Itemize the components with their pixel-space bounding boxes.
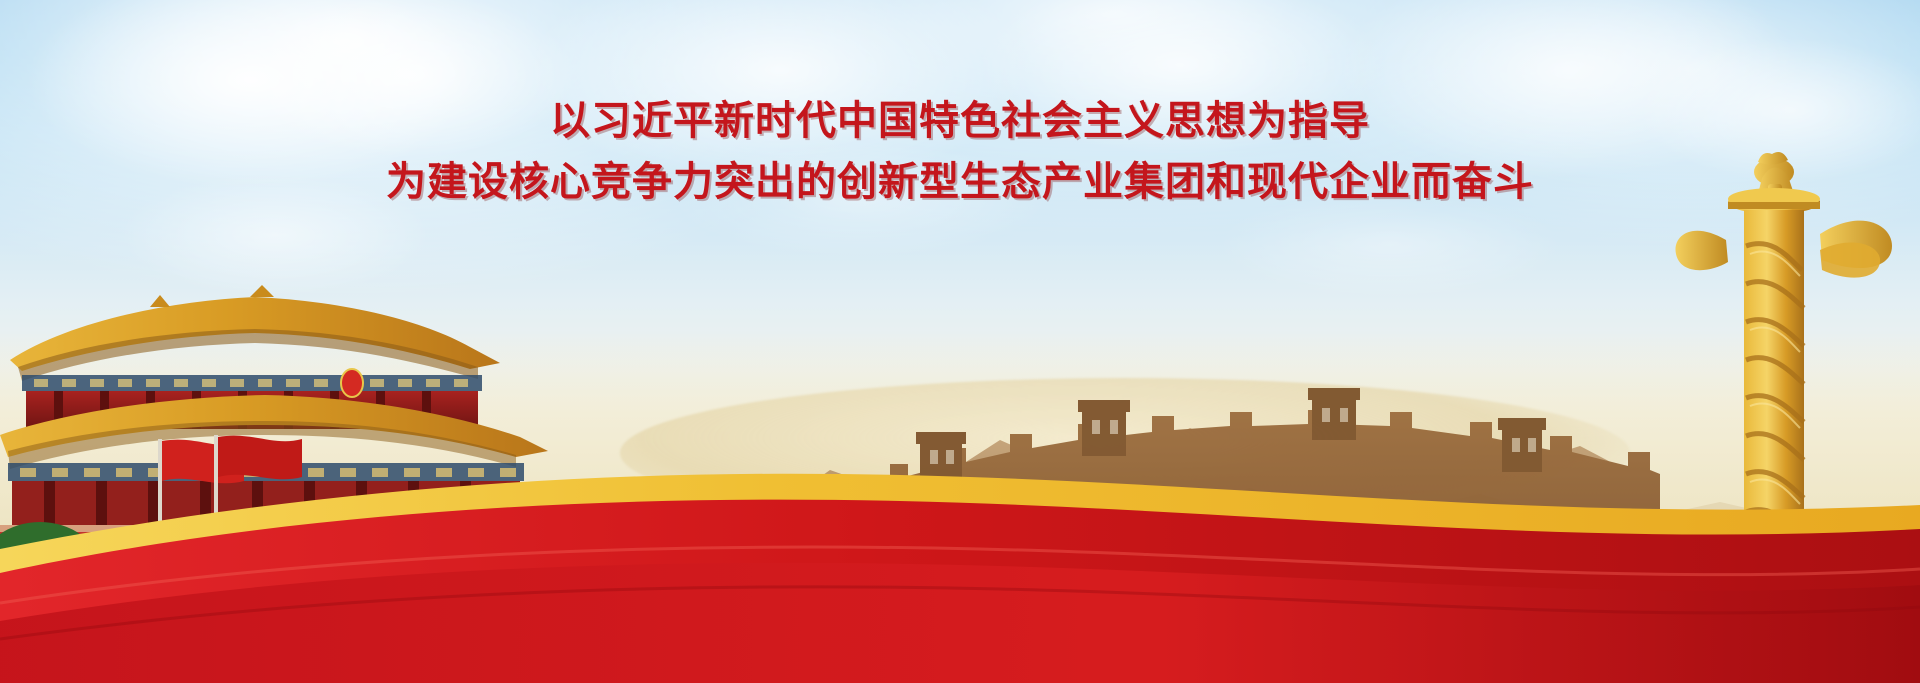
huabiao-cloud-left xyxy=(1675,231,1728,270)
propaganda-banner: 中华人民共和国万岁 世界人民大团结万岁 xyxy=(0,0,1920,683)
red-ribbon xyxy=(0,453,1920,683)
